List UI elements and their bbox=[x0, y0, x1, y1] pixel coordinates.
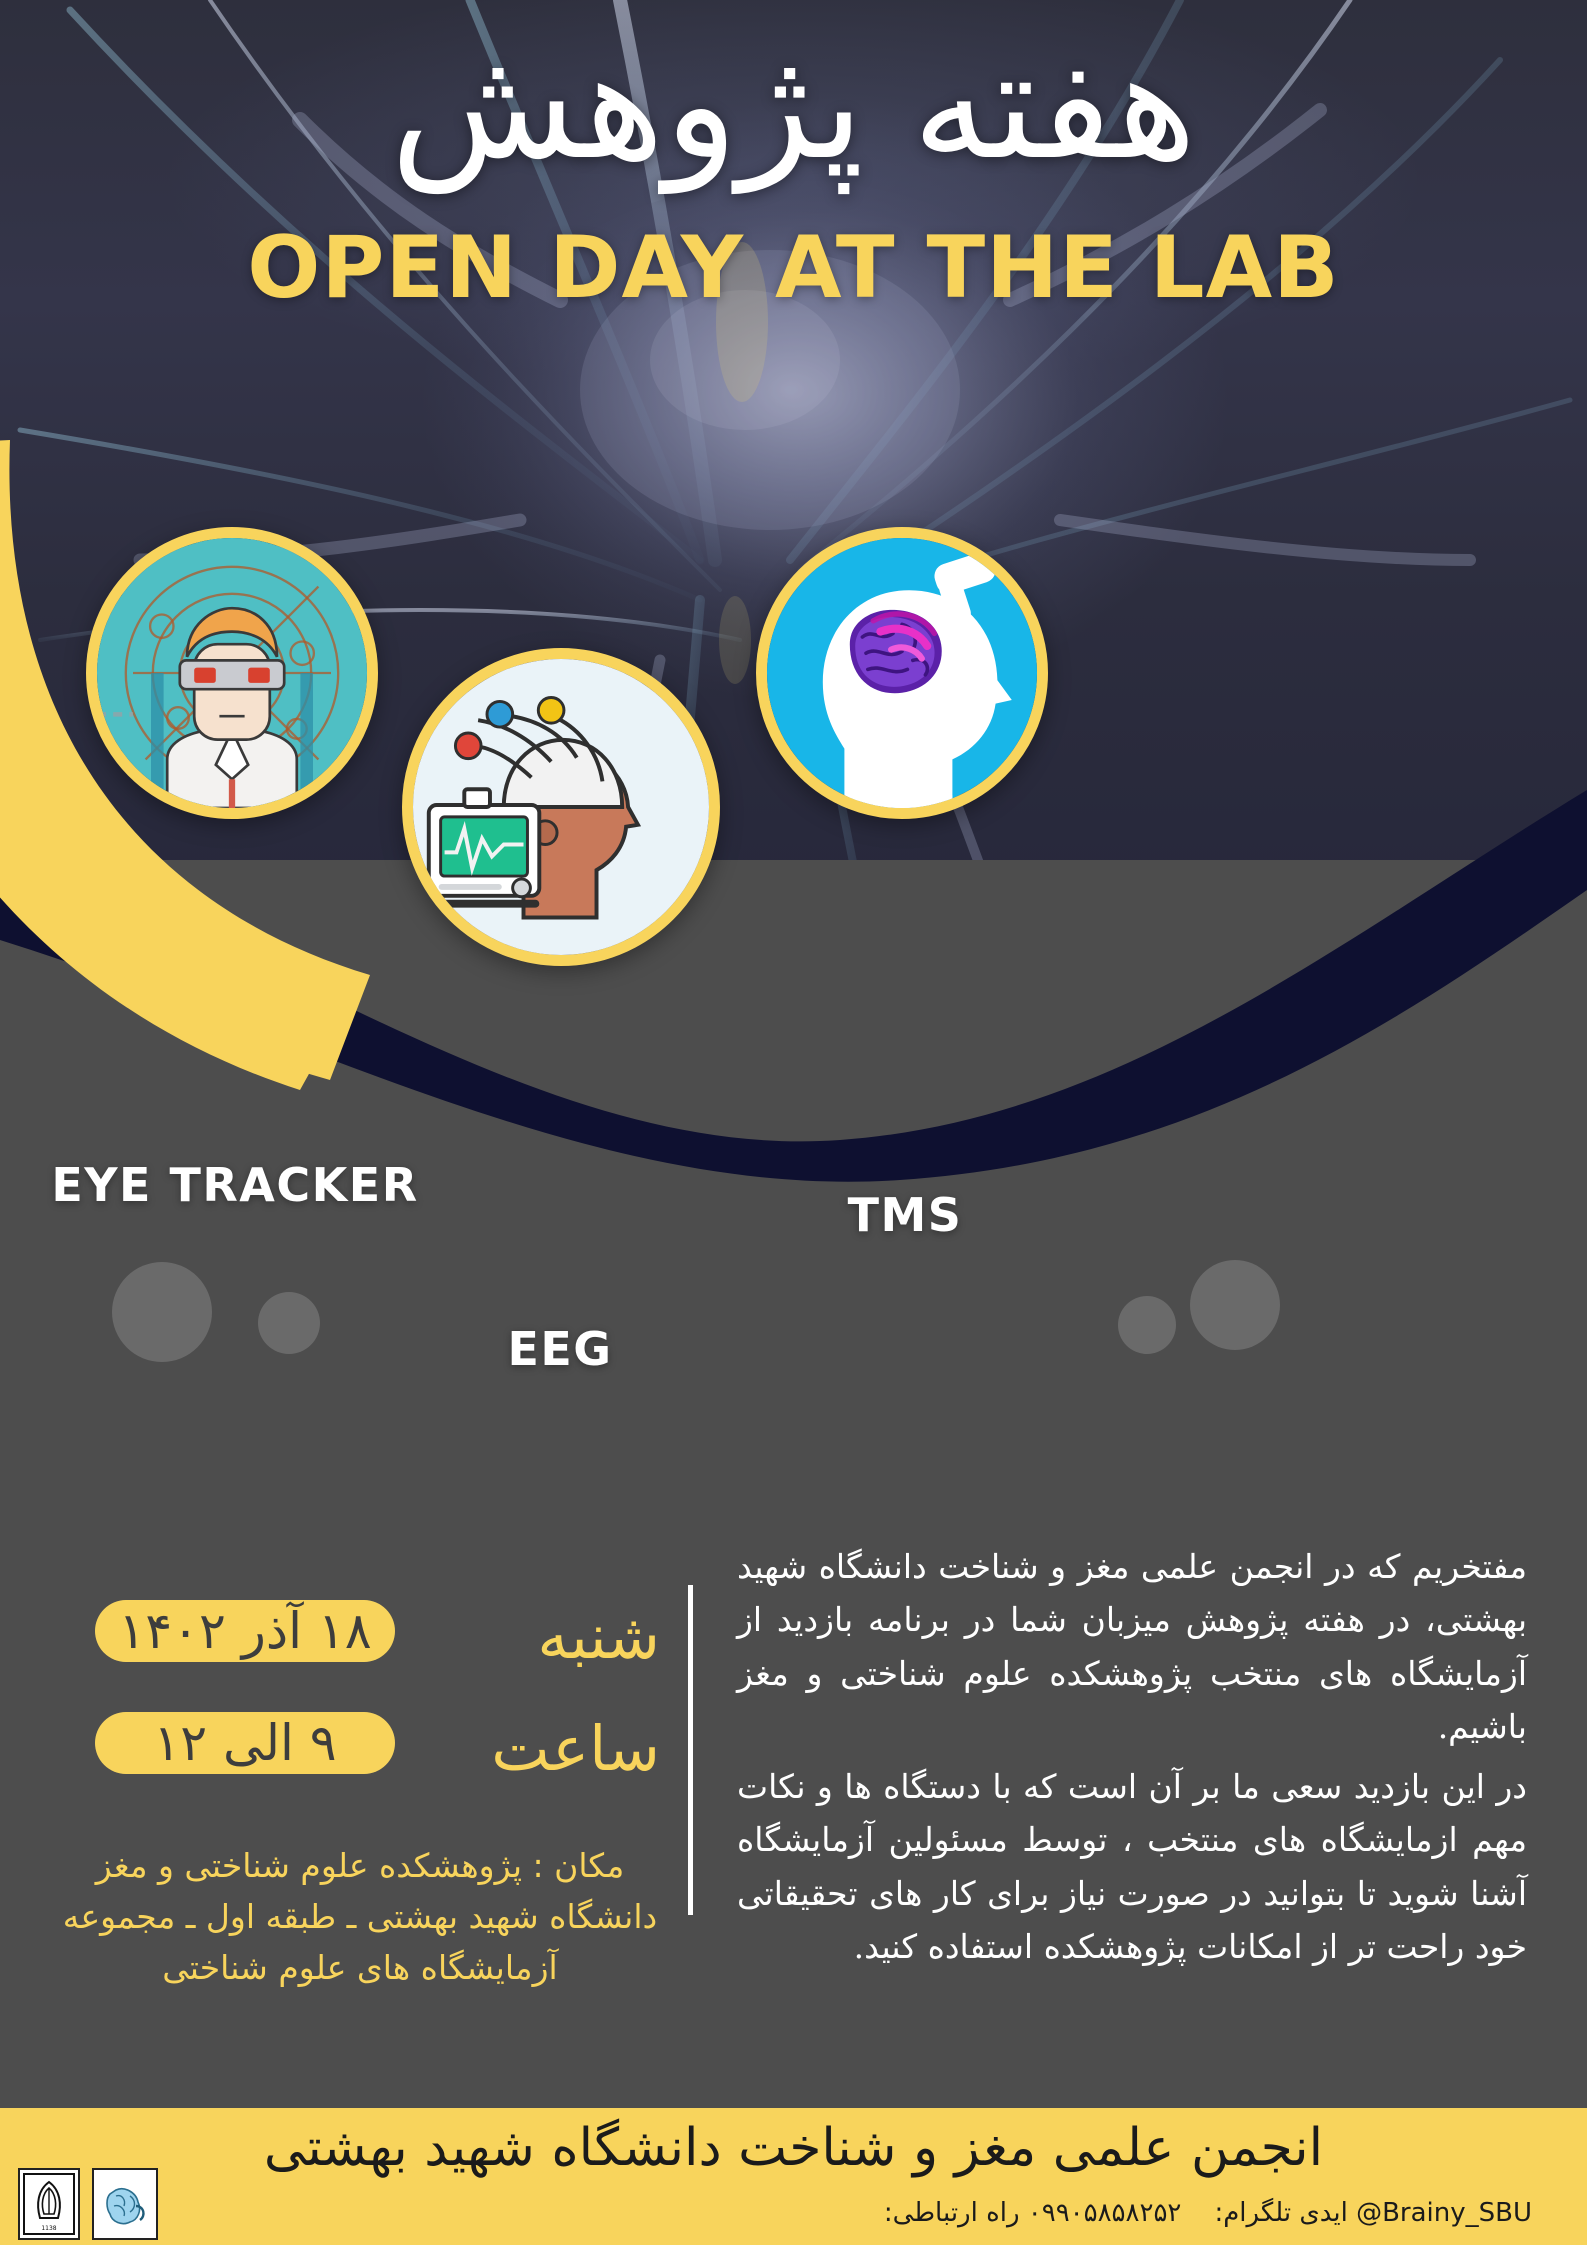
description-paragraph-2: در این بازدید سعی ما بر آن است که با دست… bbox=[737, 1760, 1527, 1974]
eeg-cap-icon bbox=[413, 659, 709, 955]
bokeh-dot bbox=[112, 1262, 212, 1362]
bokeh-dot bbox=[1190, 1260, 1280, 1350]
device-circle-tms[interactable] bbox=[756, 527, 1048, 819]
footer-contact: @Brainy_SBU ایدی تلگرام: ۰۹۹۰۵۸۵۸۲۵۲ راه… bbox=[532, 2198, 1532, 2228]
page-title-en: OPEN DAY AT THE LAB bbox=[0, 218, 1587, 318]
telegram-label: ایدی تلگرام: bbox=[1214, 2198, 1347, 2228]
page-title-fa: هفته پژوهش bbox=[0, 18, 1587, 193]
date-pill: ۱۸ آذر ۱۴۰۲ bbox=[95, 1600, 395, 1662]
day-label: شنبه bbox=[430, 1600, 660, 1673]
device-label-tms: TMS bbox=[760, 1188, 1050, 1242]
time-label: ساعت bbox=[430, 1712, 660, 1785]
contact-prefix: راه ارتباطی: bbox=[884, 2198, 1020, 2228]
device-label-eye-tracker: EYE TRACKER bbox=[40, 1158, 430, 1212]
bokeh-dot bbox=[258, 1292, 320, 1354]
device-circle-eye-tracker[interactable] bbox=[86, 527, 378, 819]
venue-text: مکان : پژوهشکده علوم شناختی و مغز دانشگا… bbox=[55, 1840, 665, 1993]
device-label-eeg: EEG bbox=[400, 1322, 720, 1376]
footer-organization: انجمن علمی مغز و شناخت دانشگاه شهید بهشت… bbox=[0, 2118, 1587, 2178]
brain-association-logo bbox=[92, 2168, 158, 2240]
svg-text:1138: 1138 bbox=[41, 2225, 56, 2232]
description-paragraph-1: مفتخریم که در انجمن علمی مغز و شناخت دان… bbox=[737, 1540, 1527, 1754]
vertical-divider bbox=[688, 1585, 693, 1915]
device-circle-eeg[interactable] bbox=[402, 648, 720, 966]
sbu-university-logo: 1138 bbox=[18, 2168, 80, 2240]
brain-logo-icon bbox=[96, 2172, 154, 2236]
sbu-logo-icon: 1138 bbox=[22, 2172, 76, 2236]
telegram-handle[interactable]: @Brainy_SBU bbox=[1356, 2198, 1532, 2228]
contact-phone: ۰۹۹۰۵۸۵۸۲۵۲ bbox=[1028, 2198, 1182, 2228]
description-block: مفتخریم که در انجمن علمی مغز و شناخت دان… bbox=[737, 1540, 1527, 1974]
tms-coil-icon bbox=[767, 538, 1037, 808]
bokeh-dot bbox=[1118, 1296, 1176, 1354]
time-pill: ۹ الی ۱۲ bbox=[95, 1712, 395, 1774]
eye-tracker-icon bbox=[97, 538, 367, 808]
